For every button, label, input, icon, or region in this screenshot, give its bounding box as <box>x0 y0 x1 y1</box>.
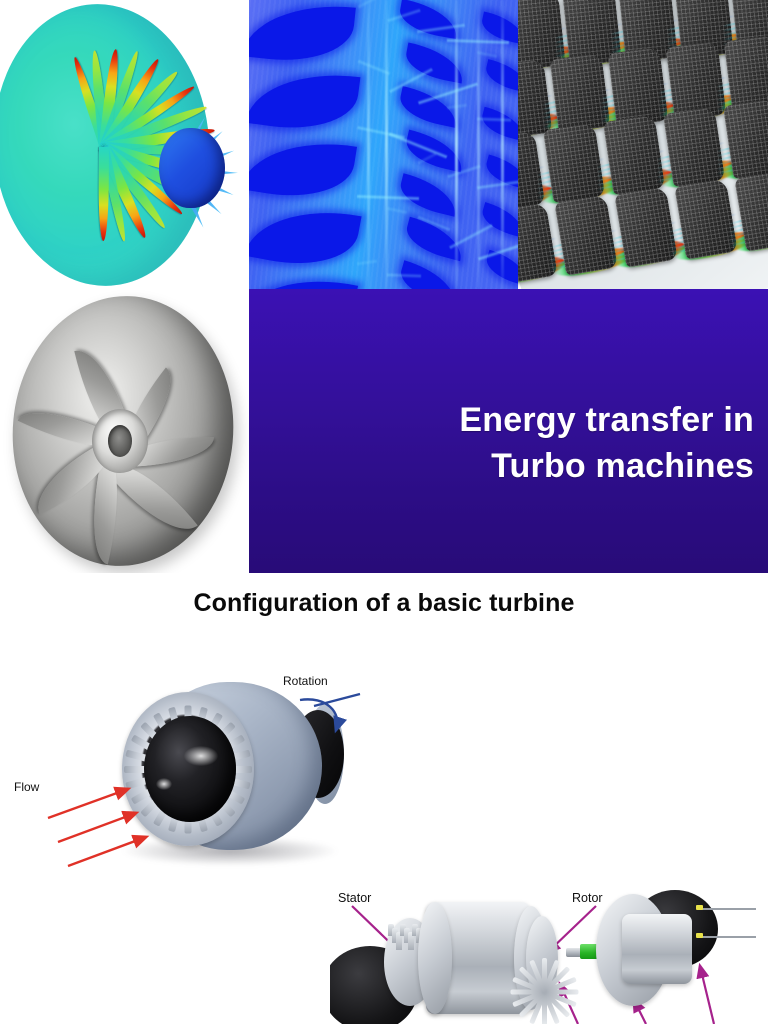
assembly-drum-front-face <box>418 902 452 1014</box>
assembly-wire-tip-upper <box>696 905 703 910</box>
assembly-exhaust-duct <box>622 914 692 984</box>
rotor-label: Rotor <box>572 891 603 905</box>
turbine-annotation-overlay <box>0 0 768 1024</box>
rotation-label: Rotation <box>283 674 328 688</box>
flow-label: Flow <box>14 780 39 794</box>
stator-label: Stator <box>338 891 371 905</box>
slide-canvas: Energy transfer in Turbo machines Config… <box>0 0 768 1024</box>
assembly-wire-tip-lower <box>696 933 703 938</box>
assembly-wire-lower <box>702 936 756 938</box>
assembly-wire-upper <box>702 908 756 910</box>
rotation-arrow <box>300 694 360 730</box>
flow-arrows <box>48 789 146 866</box>
stator-rotor-assembly-figure <box>330 884 768 1024</box>
